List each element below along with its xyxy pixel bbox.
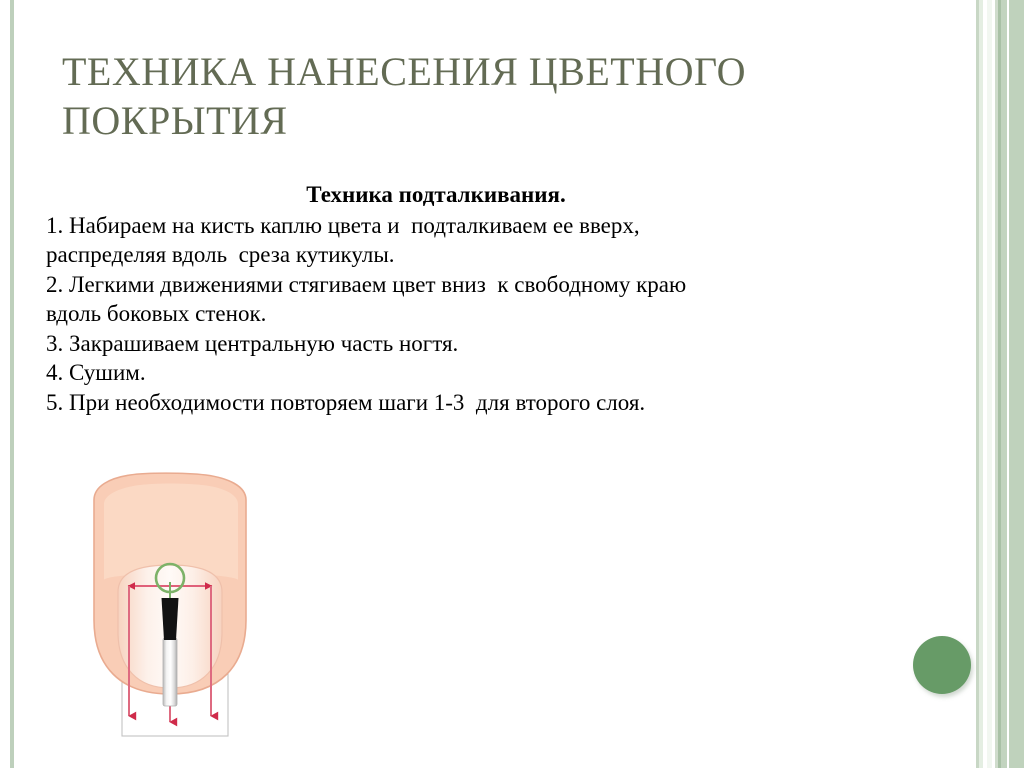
instruction-step: вдоль боковых стенок. xyxy=(46,299,926,329)
brush-hair xyxy=(162,598,179,640)
instruction-step: 1. Набираем на кисть каплю цвета и подта… xyxy=(46,211,926,241)
instruction-text-block: Техника подталкивания. 1. Набираем на ки… xyxy=(46,180,926,417)
nail-color-application-diagram xyxy=(88,470,258,750)
instruction-step: 3. Закрашиваем центральную часть ногтя. xyxy=(46,329,926,359)
page-title: Техника нанесения цветного покрытия xyxy=(62,47,902,145)
instruction-step: 5. При необходимости повторяем шаги 1-3 … xyxy=(46,388,926,418)
left-accent-rule xyxy=(10,0,14,768)
slide-canvas: Техника нанесения цветного покрытия Техн… xyxy=(0,0,1024,768)
instruction-heading: Техника подталкивания. xyxy=(46,180,926,210)
instruction-step: 2. Легкими движениями стягиваем цвет вни… xyxy=(46,270,926,300)
instruction-step: распределяя вдоль среза кутикулы. xyxy=(46,240,926,270)
brush-ferrule xyxy=(163,638,177,706)
corner-accent-dot xyxy=(913,636,971,694)
stripe-10 xyxy=(1009,0,1024,768)
right-decorative-stripe-band xyxy=(976,0,1024,768)
instruction-step: 4. Сушим. xyxy=(46,358,926,388)
